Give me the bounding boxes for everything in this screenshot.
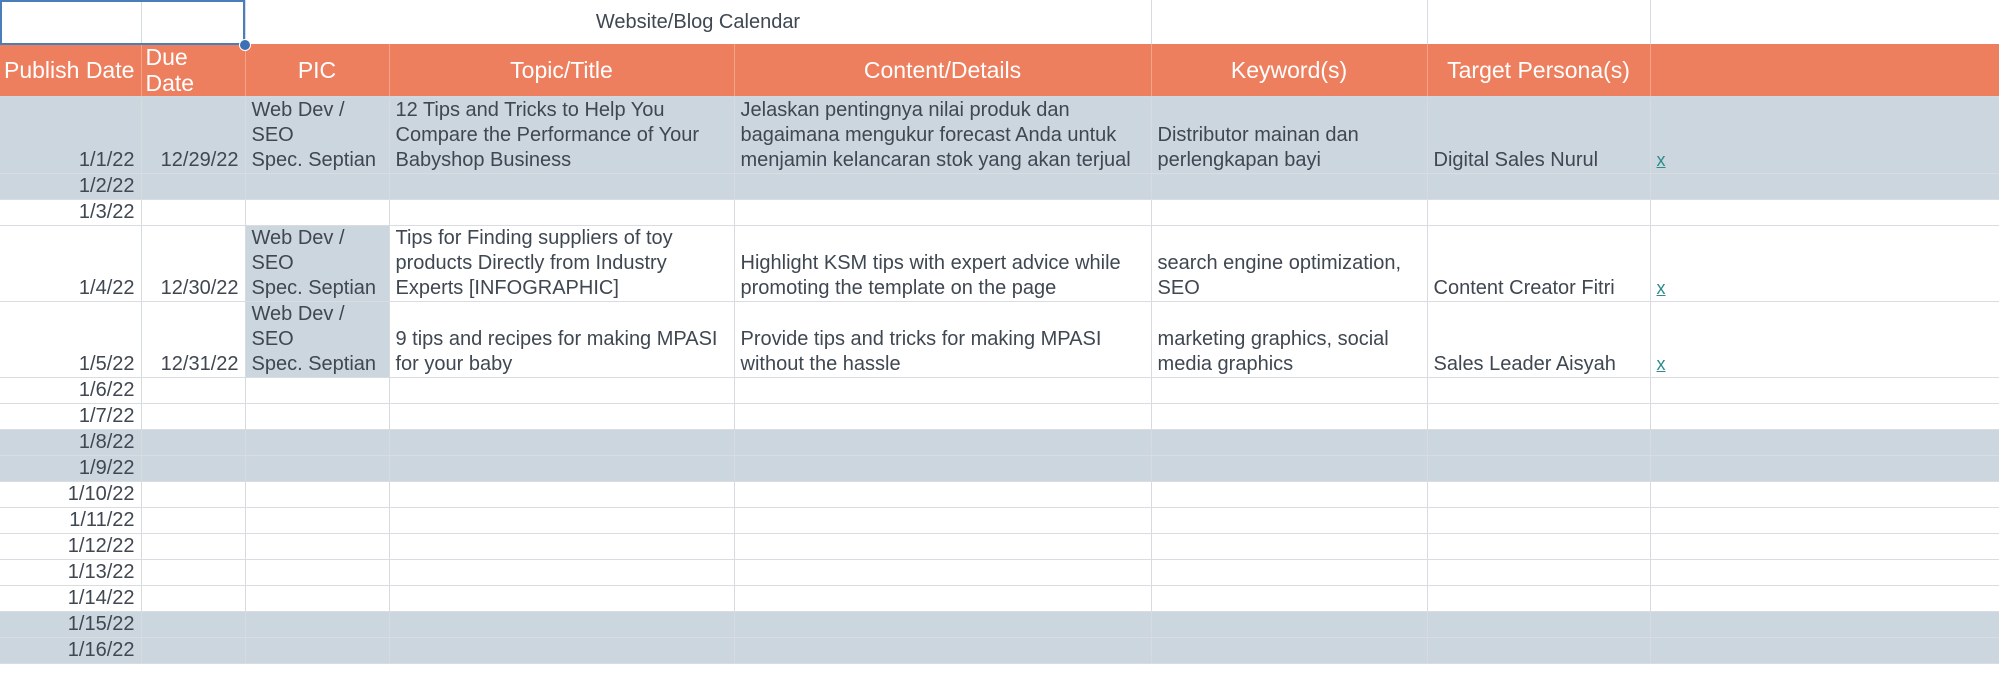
- cell-pic[interactable]: [245, 456, 389, 482]
- cell-due-date[interactable]: [141, 586, 245, 612]
- table-row[interactable]: 1/8/22: [0, 430, 1999, 456]
- cell-extra-link[interactable]: x: [1650, 302, 1999, 378]
- cell-extra-link[interactable]: [1650, 534, 1999, 560]
- cell-keywords[interactable]: Distributor mainan dan perlengkapan bayi: [1151, 97, 1427, 174]
- cell-keywords[interactable]: [1151, 200, 1427, 226]
- cell-pic[interactable]: [245, 508, 389, 534]
- cell-pic[interactable]: [245, 404, 389, 430]
- grid-body: Website/Blog Calendar Publish Date Due D…: [0, 0, 1999, 664]
- cell-target-persona[interactable]: [1427, 430, 1650, 456]
- header-keywords[interactable]: Keyword(s): [1151, 44, 1427, 97]
- cell-pic[interactable]: [245, 612, 389, 638]
- cell-target-persona[interactable]: Sales Leader Aisyah: [1427, 302, 1650, 378]
- cell-publish-date[interactable]: 1/12/22: [0, 534, 141, 560]
- cell-keywords[interactable]: [1151, 508, 1427, 534]
- cell-extra-link[interactable]: [1650, 586, 1999, 612]
- table-row[interactable]: 1/15/22: [0, 612, 1999, 638]
- cell-content-details[interactable]: Jelaskan pentingnya nilai produk dan bag…: [734, 97, 1151, 174]
- cell-target-persona[interactable]: [1427, 638, 1650, 664]
- cell-keywords[interactable]: [1151, 560, 1427, 586]
- table-row[interactable]: 1/1/2212/29/22Web Dev / SEO Spec. Septia…: [0, 97, 1999, 174]
- cell-pic[interactable]: [245, 378, 389, 404]
- external-link-icon[interactable]: x: [1657, 354, 1666, 374]
- cell-content-details[interactable]: Provide tips and tricks for making MPASI…: [734, 302, 1151, 378]
- cell-topic-title[interactable]: [389, 508, 734, 534]
- cell-target-persona[interactable]: [1427, 404, 1650, 430]
- cell-due-date[interactable]: [141, 174, 245, 200]
- cell-extra-link[interactable]: [1650, 638, 1999, 664]
- cell-keywords[interactable]: [1151, 404, 1427, 430]
- cell-target-persona[interactable]: [1427, 560, 1650, 586]
- cell-extra-link[interactable]: [1650, 482, 1999, 508]
- header-target-persona[interactable]: Target Persona(s): [1427, 44, 1650, 97]
- table-row[interactable]: 1/10/22: [0, 482, 1999, 508]
- cell-keywords[interactable]: [1151, 586, 1427, 612]
- cell-topic-title[interactable]: [389, 638, 734, 664]
- cell-keywords[interactable]: marketing graphics, social media graphic…: [1151, 302, 1427, 378]
- page-title[interactable]: Website/Blog Calendar: [245, 0, 1151, 44]
- table-row[interactable]: 1/7/22: [0, 404, 1999, 430]
- cell-publish-date[interactable]: 1/11/22: [0, 508, 141, 534]
- table-row[interactable]: 1/6/22: [0, 378, 1999, 404]
- cell-topic-title[interactable]: [389, 534, 734, 560]
- header-extra[interactable]: [1650, 44, 1999, 97]
- cell-topic-title[interactable]: [389, 586, 734, 612]
- cell-content-details[interactable]: [734, 430, 1151, 456]
- selected-cell-a1[interactable]: [0, 0, 141, 44]
- cell-content-details[interactable]: [734, 482, 1151, 508]
- cell-publish-date[interactable]: 1/5/22: [0, 302, 141, 378]
- cell-topic-title[interactable]: [389, 482, 734, 508]
- cell-target-persona[interactable]: Content Creator Fitri: [1427, 226, 1650, 302]
- cell-content-details[interactable]: [734, 560, 1151, 586]
- cell-due-date[interactable]: [141, 612, 245, 638]
- spreadsheet-canvas[interactable]: Website/Blog Calendar Publish Date Due D…: [0, 0, 1999, 684]
- cell-extra-link[interactable]: x: [1650, 97, 1999, 174]
- cell-publish-date[interactable]: 1/16/22: [0, 638, 141, 664]
- cell-content-details[interactable]: [734, 586, 1151, 612]
- title-blank-h1[interactable]: [1650, 0, 1999, 44]
- cell-extra-link[interactable]: [1650, 456, 1999, 482]
- cell-publish-date[interactable]: 1/14/22: [0, 586, 141, 612]
- cell-content-details[interactable]: [734, 638, 1151, 664]
- cell-due-date[interactable]: [141, 430, 245, 456]
- cell-topic-title[interactable]: [389, 560, 734, 586]
- calendar-grid[interactable]: Website/Blog Calendar Publish Date Due D…: [0, 0, 1999, 664]
- table-row[interactable]: 1/2/22: [0, 174, 1999, 200]
- header-pic[interactable]: PIC: [245, 44, 389, 97]
- title-blank-g1[interactable]: [1427, 0, 1650, 44]
- header-publish-date[interactable]: Publish Date: [0, 44, 141, 97]
- cell-content-details[interactable]: [734, 508, 1151, 534]
- cell-publish-date[interactable]: 1/2/22: [0, 174, 141, 200]
- cell-topic-title[interactable]: [389, 174, 734, 200]
- cell-pic[interactable]: Web Dev / SEO Spec. Septian: [245, 226, 389, 302]
- column-header-row: Publish Date Due Date PIC Topic/Title Co…: [0, 44, 1999, 97]
- cell-target-persona[interactable]: [1427, 456, 1650, 482]
- cell-content-details[interactable]: [734, 404, 1151, 430]
- external-link-icon[interactable]: x: [1657, 150, 1666, 170]
- cell-keywords[interactable]: [1151, 482, 1427, 508]
- cell-pic[interactable]: Web Dev / SEO Spec. Septian: [245, 302, 389, 378]
- table-row[interactable]: 1/5/2212/31/22Web Dev / SEO Spec. Septia…: [0, 302, 1999, 378]
- header-content-details[interactable]: Content/Details: [734, 44, 1151, 97]
- cell-pic[interactable]: [245, 174, 389, 200]
- cell-due-date[interactable]: 12/31/22: [141, 302, 245, 378]
- title-blank-f1[interactable]: [1151, 0, 1427, 44]
- table-row[interactable]: 1/9/22: [0, 456, 1999, 482]
- cell-target-persona[interactable]: [1427, 482, 1650, 508]
- table-row[interactable]: 1/16/22: [0, 638, 1999, 664]
- cell-topic-title[interactable]: [389, 456, 734, 482]
- cell-keywords[interactable]: [1151, 378, 1427, 404]
- cell-topic-title[interactable]: [389, 200, 734, 226]
- cell-publish-date[interactable]: 1/7/22: [0, 404, 141, 430]
- cell-extra-link[interactable]: [1650, 404, 1999, 430]
- cell-due-date[interactable]: [141, 200, 245, 226]
- cell-due-date[interactable]: [141, 638, 245, 664]
- cell-content-details[interactable]: Highlight KSM tips with expert advice wh…: [734, 226, 1151, 302]
- cell-target-persona[interactable]: [1427, 200, 1650, 226]
- cell-due-date[interactable]: [141, 534, 245, 560]
- cell-due-date[interactable]: [141, 560, 245, 586]
- cell-due-date[interactable]: [141, 482, 245, 508]
- cell-target-persona[interactable]: [1427, 534, 1650, 560]
- cell-topic-title[interactable]: [389, 404, 734, 430]
- title-row: Website/Blog Calendar: [0, 0, 1999, 44]
- cell-topic-title[interactable]: 12 Tips and Tricks to Help You Compare t…: [389, 97, 734, 174]
- header-topic-title[interactable]: Topic/Title: [389, 44, 734, 97]
- cell-content-details[interactable]: [734, 534, 1151, 560]
- cell-extra-link[interactable]: [1650, 560, 1999, 586]
- cell-topic-title[interactable]: [389, 612, 734, 638]
- cell-extra-link[interactable]: [1650, 430, 1999, 456]
- cell-due-date[interactable]: [141, 404, 245, 430]
- cell-publish-date[interactable]: 1/15/22: [0, 612, 141, 638]
- cell-publish-date[interactable]: 1/4/22: [0, 226, 141, 302]
- cell-extra-link[interactable]: x: [1650, 226, 1999, 302]
- cell-content-details[interactable]: [734, 456, 1151, 482]
- cell-pic[interactable]: [245, 482, 389, 508]
- cell-target-persona[interactable]: [1427, 586, 1650, 612]
- cell-due-date[interactable]: [141, 508, 245, 534]
- table-row[interactable]: 1/12/22: [0, 534, 1999, 560]
- cell-pic[interactable]: [245, 560, 389, 586]
- cell-target-persona[interactable]: [1427, 174, 1650, 200]
- external-link-icon[interactable]: x: [1657, 278, 1666, 298]
- cell-pic[interactable]: [245, 638, 389, 664]
- cell-topic-title[interactable]: [389, 378, 734, 404]
- cell-due-date[interactable]: 12/29/22: [141, 97, 245, 174]
- cell-extra-link[interactable]: [1650, 174, 1999, 200]
- cell-extra-link[interactable]: [1650, 378, 1999, 404]
- cell-content-details[interactable]: [734, 200, 1151, 226]
- cell-keywords[interactable]: [1151, 430, 1427, 456]
- cell-publish-date[interactable]: 1/3/22: [0, 200, 141, 226]
- cell-target-persona[interactable]: [1427, 508, 1650, 534]
- cell-pic[interactable]: [245, 200, 389, 226]
- table-row[interactable]: 1/3/22: [0, 200, 1999, 226]
- cell-topic-title[interactable]: 9 tips and recipes for making MPASI for …: [389, 302, 734, 378]
- cell-publish-date[interactable]: 1/6/22: [0, 378, 141, 404]
- table-row[interactable]: 1/4/2212/30/22Web Dev / SEO Spec. Septia…: [0, 226, 1999, 302]
- cell-due-date[interactable]: [141, 378, 245, 404]
- cell-due-date[interactable]: [141, 456, 245, 482]
- cell-publish-date[interactable]: 1/1/22: [0, 97, 141, 174]
- cell-keywords[interactable]: search engine optimization, SEO: [1151, 226, 1427, 302]
- selection-fill-handle[interactable]: [239, 39, 251, 51]
- table-row[interactable]: 1/14/22: [0, 586, 1999, 612]
- title-blank-b1[interactable]: [141, 0, 245, 44]
- cell-target-persona[interactable]: Digital Sales Nurul: [1427, 97, 1650, 174]
- cell-keywords[interactable]: [1151, 638, 1427, 664]
- cell-due-date[interactable]: 12/30/22: [141, 226, 245, 302]
- table-row[interactable]: 1/13/22: [0, 560, 1999, 586]
- cell-extra-link[interactable]: [1650, 508, 1999, 534]
- cell-publish-date[interactable]: 1/8/22: [0, 430, 141, 456]
- header-due-date[interactable]: Due Date: [141, 44, 245, 97]
- cell-keywords[interactable]: [1151, 174, 1427, 200]
- cell-extra-link[interactable]: [1650, 612, 1999, 638]
- cell-pic[interactable]: [245, 586, 389, 612]
- cell-pic[interactable]: [245, 430, 389, 456]
- cell-pic[interactable]: [245, 534, 389, 560]
- cell-extra-link[interactable]: [1650, 200, 1999, 226]
- cell-keywords[interactable]: [1151, 456, 1427, 482]
- cell-publish-date[interactable]: 1/9/22: [0, 456, 141, 482]
- cell-target-persona[interactable]: [1427, 612, 1650, 638]
- cell-topic-title[interactable]: Tips for Finding suppliers of toy produc…: [389, 226, 734, 302]
- cell-content-details[interactable]: [734, 378, 1151, 404]
- table-row[interactable]: 1/11/22: [0, 508, 1999, 534]
- cell-content-details[interactable]: [734, 174, 1151, 200]
- cell-topic-title[interactable]: [389, 430, 734, 456]
- cell-target-persona[interactable]: [1427, 378, 1650, 404]
- cell-publish-date[interactable]: 1/10/22: [0, 482, 141, 508]
- cell-content-details[interactable]: [734, 612, 1151, 638]
- cell-pic[interactable]: Web Dev / SEO Spec. Septian: [245, 97, 389, 174]
- cell-publish-date[interactable]: 1/13/22: [0, 560, 141, 586]
- cell-keywords[interactable]: [1151, 612, 1427, 638]
- cell-keywords[interactable]: [1151, 534, 1427, 560]
